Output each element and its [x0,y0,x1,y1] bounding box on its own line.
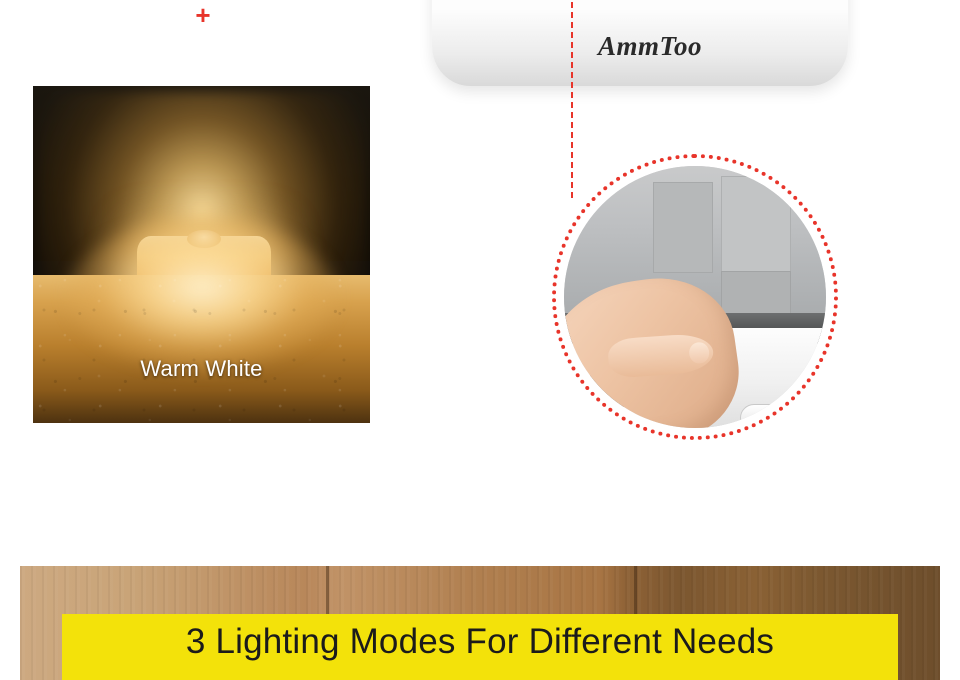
circular-callout: On Off [552,154,838,440]
switch-on-label: On [799,397,820,415]
motion-sensor-icon [799,418,826,428]
dotted-circle-icon [552,154,838,440]
warm-white-caption: Warm White [33,356,370,382]
plus-icon: + [192,4,214,26]
warm-white-photo: Warm White [33,86,370,423]
surface-texture [33,268,370,423]
brand-logo: AmmToo [598,31,702,62]
banner-headline: 3 Lighting Modes For Different Needs [20,622,940,662]
bottom-banner: 3 Lighting Modes For Different Needs [20,566,940,680]
product-detail-image: + Warm White AmmToo On Off [0,0,960,680]
product-highlight [457,0,823,12]
